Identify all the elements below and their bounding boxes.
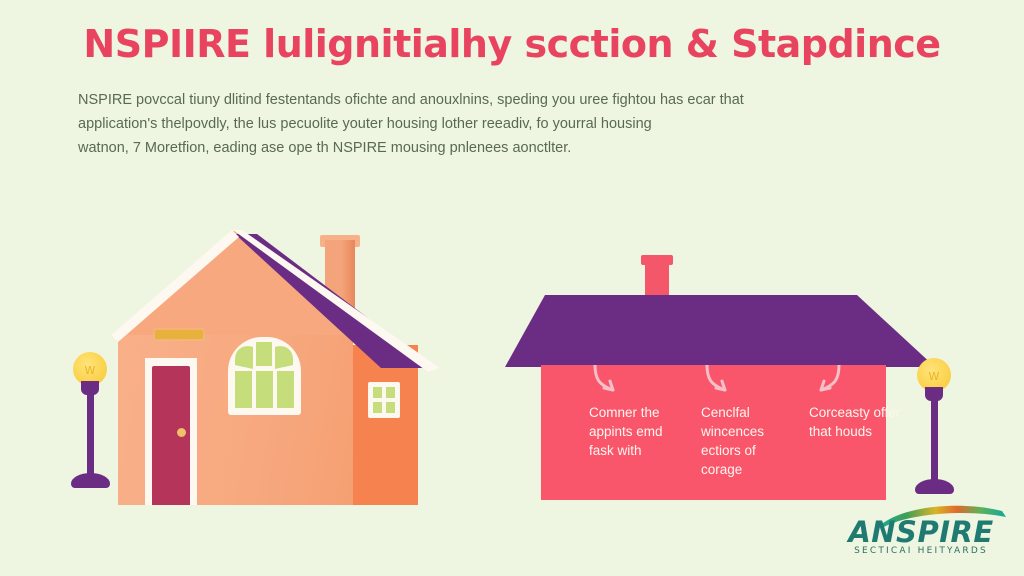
logo-wordmark: ANSPIRE <box>832 515 1010 549</box>
window-pane <box>373 387 382 398</box>
illustrated-house <box>95 230 445 505</box>
side-window <box>368 382 400 418</box>
window-pane <box>256 342 272 366</box>
house-side-wing <box>353 345 418 505</box>
window-pane <box>235 371 252 408</box>
window-pane <box>386 402 395 413</box>
lamp-base <box>915 479 954 494</box>
intro-line-2: application's thelpovdly, the lus pecuol… <box>78 112 948 136</box>
callout-text-3: Corceasty offer that houds <box>809 403 901 441</box>
callout-arrow-icon <box>591 365 629 399</box>
callout-text-1: Comner the appints emd fask with <box>589 403 681 460</box>
window-pane <box>277 371 294 408</box>
intro-line-1: NSPIRE povccal tiuny dlitind festentands… <box>78 88 948 112</box>
callout-arrow-icon <box>703 365 741 399</box>
arched-window <box>228 337 301 415</box>
window-pane <box>373 402 382 413</box>
wall-plaque <box>155 330 203 339</box>
window-pane <box>275 343 293 369</box>
bulb-filament: W <box>926 370 942 383</box>
poster-canvas: NSPIIRE lulignitialhy scction & Stapdinc… <box>0 0 1024 576</box>
door-knob-icon <box>177 428 186 437</box>
page-title: NSPIIRE lulignitialhy scction & Stapdinc… <box>0 22 1024 66</box>
street-lamp-right: W <box>908 358 960 498</box>
intro-paragraph: NSPIRE povccal tiuny dlitind festentands… <box>78 88 948 160</box>
house-roof <box>505 295 935 367</box>
window-pane <box>386 387 395 398</box>
house-wall-panel: Comner the appints emd fask with Cenclfa… <box>541 365 886 500</box>
annotated-house: Comner the appints emd fask with Cenclfa… <box>505 255 935 505</box>
callout-text-2: Cenclfal wincences ectiors of corage <box>701 403 793 479</box>
brand-logo: ANSPIRE SECTICAI HEITYARDS <box>832 505 1010 565</box>
window-pane <box>235 343 253 369</box>
intro-line-3: watnon, 7 Moretfion, eading ase ope th N… <box>78 136 948 160</box>
logo-tagline: SECTICAI HEITYARDS <box>832 546 1010 556</box>
lamp-post <box>931 398 938 483</box>
callout-arrow-icon <box>805 365 843 399</box>
lamp-post <box>87 392 94 477</box>
window-pane <box>256 371 273 408</box>
